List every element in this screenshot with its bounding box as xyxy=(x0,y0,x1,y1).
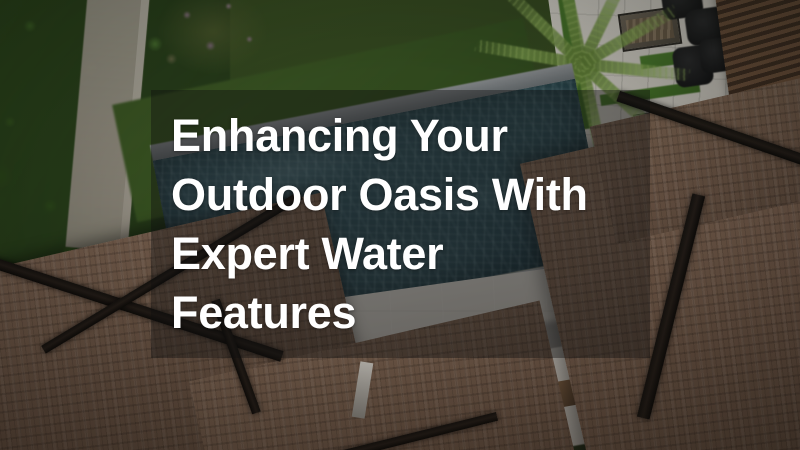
hero-banner: Enhancing Your Outdoor Oasis With Expert… xyxy=(0,0,800,450)
page-title: Enhancing Your Outdoor Oasis With Expert… xyxy=(171,106,630,342)
title-overlay-box: Enhancing Your Outdoor Oasis With Expert… xyxy=(151,90,650,358)
